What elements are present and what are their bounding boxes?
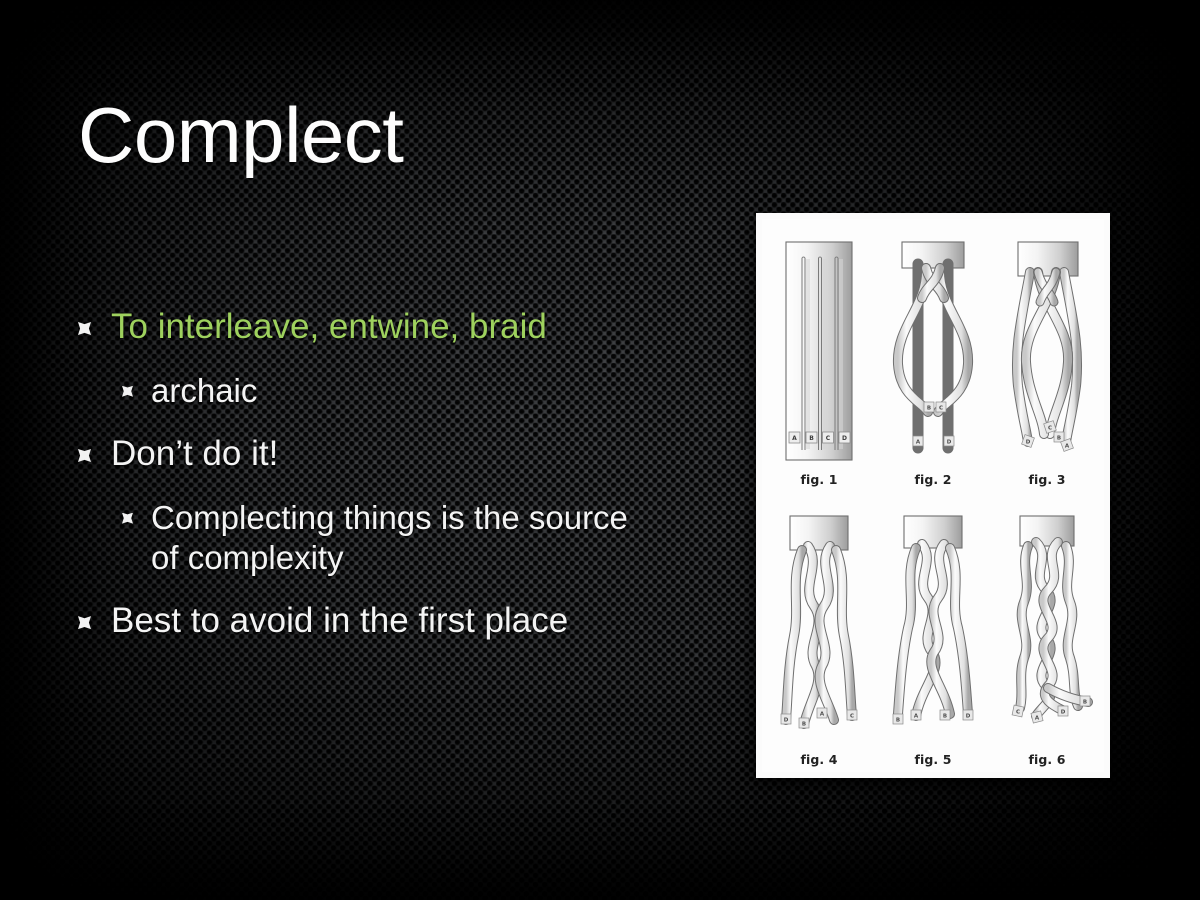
svg-text:B: B <box>809 435 814 442</box>
slide: Complect To interleave, entwine, braid a… <box>0 0 1200 900</box>
svg-text:A: A <box>1065 444 1070 450</box>
svg-text:D: D <box>1026 440 1031 446</box>
svg-text:A: A <box>916 440 921 446</box>
svg-text:B: B <box>927 406 931 412</box>
svg-text:A: A <box>792 435 797 442</box>
figure-caption: fig. 2 <box>914 472 951 487</box>
figure-2-illustration: B C A D <box>876 236 990 468</box>
svg-text:A: A <box>1035 716 1040 722</box>
bullet-marker-icon <box>78 616 91 629</box>
figure-6-illustration: C A D B <box>990 510 1104 748</box>
figure-caption: fig. 4 <box>800 752 837 767</box>
bullet-marker-icon <box>78 449 91 462</box>
svg-text:B: B <box>1057 436 1061 442</box>
svg-text:D: D <box>1061 710 1066 716</box>
svg-text:C: C <box>826 435 831 442</box>
bullet-text: To interleave, entwine, braid <box>111 306 547 349</box>
braid-diagram-panel: A B C D fig. 1 <box>756 213 1110 778</box>
figure-caption: fig. 5 <box>914 752 951 767</box>
svg-text:B: B <box>943 714 947 720</box>
list-item: Complecting things is the source of comp… <box>122 498 718 579</box>
figure-cell: D B A C fig. 4 <box>762 495 876 767</box>
figure-1-illustration: A B C D <box>762 236 876 468</box>
svg-text:D: D <box>947 440 952 446</box>
figure-cell: A B C D fig. 1 <box>762 223 876 487</box>
svg-text:D: D <box>784 718 789 724</box>
figure-cell: B A B D fig. 5 <box>876 495 990 767</box>
bullet-marker-icon <box>122 513 133 524</box>
list-item: Don’t do it! <box>78 433 718 476</box>
bullet-marker-icon <box>78 322 91 335</box>
svg-text:B: B <box>1083 700 1087 706</box>
svg-text:A: A <box>914 714 919 720</box>
bullet-text: Complecting things is the source of comp… <box>151 498 631 579</box>
bullet-text: archaic <box>151 371 257 411</box>
figure-row-top: A B C D fig. 1 <box>762 223 1104 487</box>
figure-caption: fig. 1 <box>800 472 837 487</box>
figure-4-illustration: D B A C <box>762 510 876 748</box>
figure-caption: fig. 3 <box>1028 472 1065 487</box>
bullet-list: To interleave, entwine, braid archaic Do… <box>78 306 718 665</box>
figure-caption: fig. 6 <box>1028 752 1065 767</box>
list-item: Best to avoid in the first place <box>78 600 718 643</box>
figure-cell: C A D B fig. 6 <box>990 495 1104 767</box>
figure-cell: D C B A fig. 3 <box>990 223 1104 487</box>
bullet-marker-icon <box>122 386 133 397</box>
list-item: archaic <box>122 371 718 411</box>
svg-text:D: D <box>842 435 847 442</box>
bullet-text: Best to avoid in the first place <box>111 600 568 643</box>
list-item: To interleave, entwine, braid <box>78 306 718 349</box>
svg-text:C: C <box>1048 426 1052 432</box>
figure-5-illustration: B A B D <box>876 510 990 748</box>
svg-text:D: D <box>966 714 971 720</box>
svg-text:C: C <box>1016 710 1020 716</box>
svg-text:C: C <box>939 406 943 412</box>
bullet-text: Don’t do it! <box>111 433 278 476</box>
figure-3-illustration: D C B A <box>990 236 1104 468</box>
svg-text:B: B <box>802 722 806 728</box>
page-title: Complect <box>78 96 403 174</box>
figure-row-bottom: D B A C fig. 4 <box>762 495 1104 767</box>
svg-text:B: B <box>896 718 900 724</box>
figure-cell: B C A D fig. 2 <box>876 223 990 487</box>
svg-text:A: A <box>820 712 825 718</box>
svg-text:C: C <box>850 714 854 720</box>
braid-diagram-canvas: A B C D fig. 1 <box>762 219 1104 772</box>
